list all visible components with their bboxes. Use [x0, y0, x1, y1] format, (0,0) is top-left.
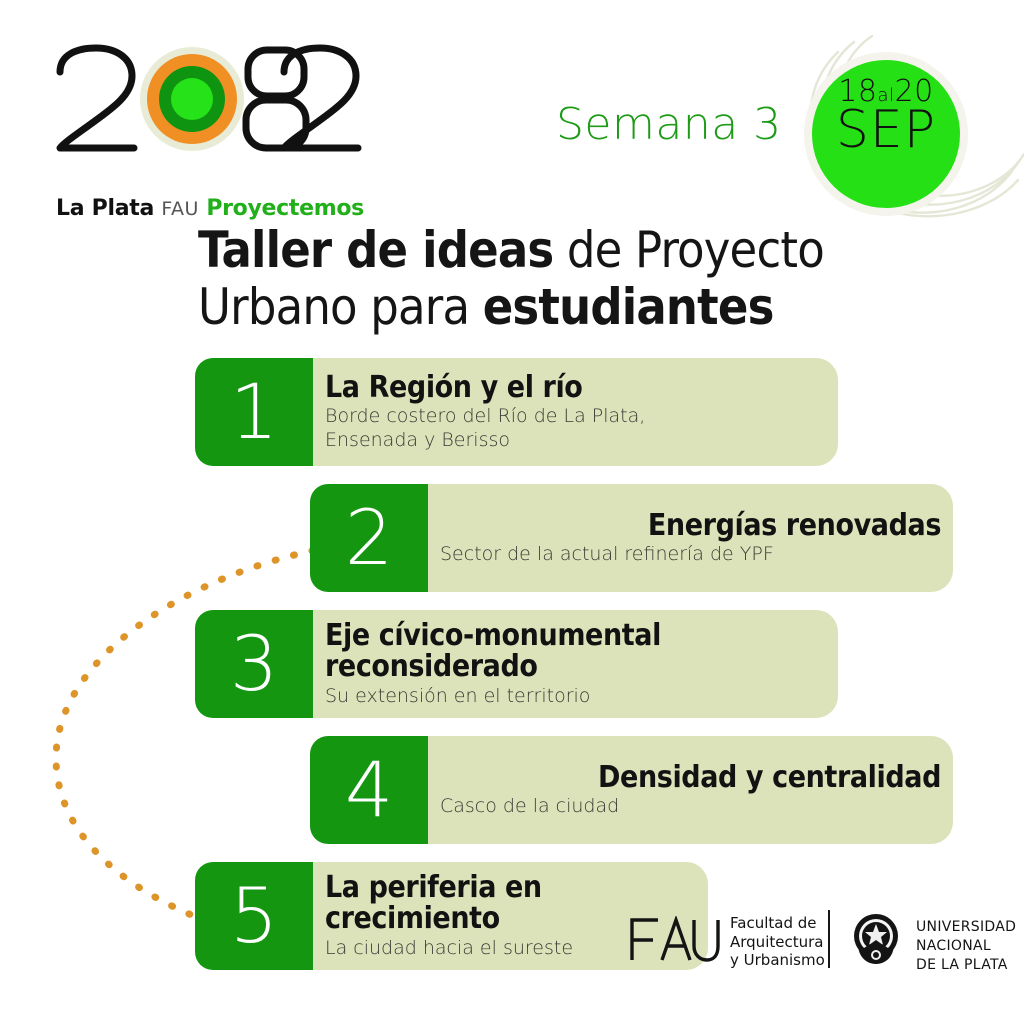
page-title-regular-2: Urbano para — [198, 278, 483, 336]
topic-subtitle: Borde costero del Río de La Plata,Ensena… — [325, 405, 826, 451]
topic-subtitle: Su extensión en el territorio — [325, 685, 826, 708]
topic-title: La Región y el río — [325, 372, 826, 403]
topic-title-line: La Región y el río — [325, 372, 826, 403]
date-badge-month: SEP — [812, 104, 960, 156]
topic-text: Eje cívico-monumentalreconsideradoSu ext… — [325, 610, 826, 718]
topic-number: 4 — [310, 736, 428, 844]
topic-title-line: reconsiderado — [325, 651, 826, 682]
topic-title-line: Densidad y centralidad — [598, 762, 941, 793]
topic-item-3[interactable]: 3Eje cívico-monumentalreconsideradoSu ex… — [195, 610, 838, 718]
topic-title: Densidad y centralidad — [598, 762, 941, 793]
fau-name-line-3: y Urbanismo — [730, 951, 825, 970]
topic-item-1[interactable]: 1La Región y el ríoBorde costero del Río… — [195, 358, 838, 466]
page-title: Taller de ideas de Proyecto Urbano para … — [198, 222, 898, 336]
topic-text: Densidad y centralidadCasco de la ciudad — [440, 736, 941, 844]
logo-tagline-fau: FAU — [161, 198, 199, 220]
unlp-line-1: UNIVERSIDAD — [916, 918, 1016, 937]
logo-tagline-word: Proyectemos — [206, 196, 364, 221]
fau-name-line-1: Facultad de — [730, 914, 825, 933]
topic-number: 1 — [195, 358, 313, 466]
topic-subtitle: Sector de la actual refinería de YPF — [440, 543, 774, 566]
topic-title: Eje cívico-monumentalreconsiderado — [325, 620, 826, 682]
topic-subtitle-line: Su extensión en el territorio — [325, 685, 826, 708]
topic-subtitle: Casco de la ciudad — [440, 795, 619, 818]
topic-item-2[interactable]: 2Energías renovadasSector de la actual r… — [310, 484, 953, 592]
logo-tagline: La Plata FAU Proyectemos — [56, 196, 364, 221]
topic-title: Energías renovadas — [648, 510, 941, 541]
topic-title-line: Energías renovadas — [648, 510, 941, 541]
topic-subtitle-line: Casco de la ciudad — [440, 795, 619, 818]
footer-divider — [828, 910, 830, 968]
topic-number: 5 — [195, 862, 313, 970]
fau-logo-icon — [628, 916, 720, 962]
date-badge: 18al20 SEP — [776, 28, 1024, 238]
unlp-crest-icon — [848, 910, 904, 968]
topic-title-line: La periferia en — [325, 872, 696, 903]
page-title-regular-1: de Proyecto — [553, 221, 824, 279]
brand-logo: La Plata FAU Proyectemos — [52, 44, 362, 190]
topic-number: 2 — [310, 484, 428, 592]
topic-item-4[interactable]: 4Densidad y centralidadCasco de la ciuda… — [310, 736, 953, 844]
poster-canvas: La Plata FAU Proyectemos Semana 3 18al20… — [0, 0, 1024, 1024]
fau-faculty-name: Facultad de Arquitectura y Urbanismo — [730, 914, 825, 970]
topic-subtitle-line: Sector de la actual refinería de YPF — [440, 543, 774, 566]
unlp-name: UNIVERSIDAD NACIONAL DE LA PLATA — [916, 918, 1016, 975]
page-title-bold-1: Taller de ideas — [198, 221, 553, 279]
logo-tagline-city: La Plata — [56, 196, 154, 221]
topic-title-line: Eje cívico-monumental — [325, 620, 826, 651]
week-label: Semana 3 — [556, 99, 806, 150]
unlp-line-3: DE LA PLATA — [916, 956, 1016, 975]
topic-subtitle-line: Ensenada y Berisso — [325, 429, 826, 452]
fau-name-line-2: Arquitectura — [730, 933, 825, 952]
page-title-bold-2: estudiantes — [483, 278, 774, 336]
footer-logos: Facultad de Arquitectura y Urbanismo UNI… — [628, 906, 988, 976]
topic-subtitle-line: Borde costero del Río de La Plata, — [325, 405, 826, 428]
topic-list: 1La Región y el ríoBorde costero del Río… — [0, 358, 1024, 988]
logo-2082-icon — [52, 44, 362, 154]
topic-text: Energías renovadasSector de la actual re… — [440, 484, 941, 592]
topic-number: 3 — [195, 610, 313, 718]
unlp-line-2: NACIONAL — [916, 937, 1016, 956]
topic-text: La Región y el ríoBorde costero del Río … — [325, 358, 826, 466]
